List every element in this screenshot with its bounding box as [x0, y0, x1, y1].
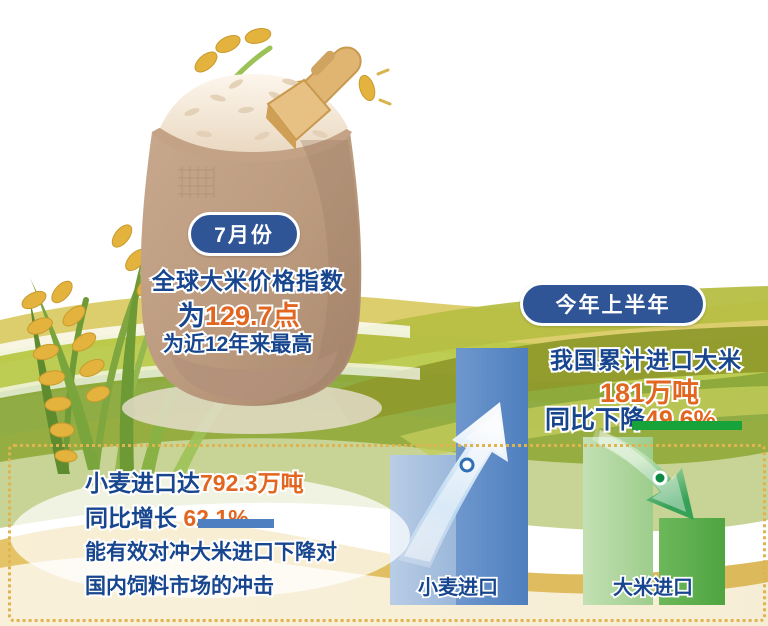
rice-index-line3: 为近12年来最高	[163, 328, 312, 358]
wheat-note-line1: 能有效对冲大米进口下降对	[85, 536, 337, 566]
rice-change-prefix: 同比下降	[545, 406, 645, 434]
rice-change-underline	[632, 421, 742, 430]
wheat-data-point	[461, 459, 473, 471]
bar-label-wheat: 小麦进口	[418, 571, 498, 600]
wheat-amount-prefix: 小麦进口达	[85, 470, 200, 496]
badge-first-half: 今年上半年	[520, 282, 706, 326]
wheat-growth-prefix: 同比增长	[85, 505, 177, 531]
infographic-canvas: 7月份 今年上半年 全球大米价格指数 为129.7点 为近12年来最高 我国累计…	[0, 0, 768, 626]
wheat-amount-value: 792.3	[200, 470, 258, 496]
rice-index-suffix: 点	[273, 301, 300, 331]
bar-label-rice: 大米进口	[613, 571, 693, 600]
wheat-amount-unit: 万吨	[258, 470, 304, 496]
wheat-growth-underline	[198, 519, 274, 528]
rice-data-point	[654, 472, 666, 484]
badge-july: 7月份	[188, 212, 300, 256]
wheat-import-amount-line: 小麦进口达792.3万吨	[85, 464, 304, 498]
rice-import-line1: 我国累计进口大米	[550, 341, 742, 375]
rice-import-change-line: 同比下降49.6%	[545, 400, 716, 436]
rice-index-prefix: 为	[178, 301, 205, 331]
rice-index-value: 129.7	[205, 301, 273, 331]
wheat-note-line2: 国内饲料市场的冲击	[85, 570, 274, 600]
rice-index-line1: 全球大米价格指数	[152, 262, 344, 296]
